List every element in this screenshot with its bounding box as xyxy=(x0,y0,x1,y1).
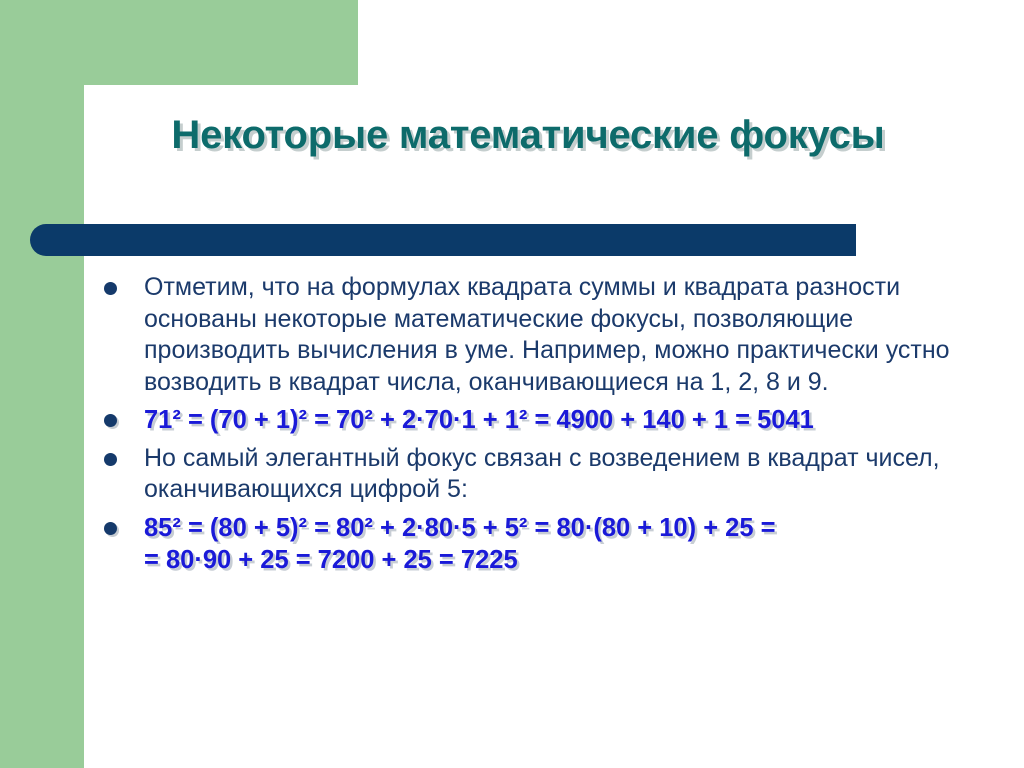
bullet-marker xyxy=(100,512,144,535)
page-title: Некоторые математические фокусы xyxy=(88,113,968,158)
title-divider-bar xyxy=(30,224,856,256)
bullet-dot-icon xyxy=(104,522,117,535)
slide-body: Отметим, что на формулах квадрата суммы … xyxy=(100,272,980,583)
bullet-dot-icon xyxy=(104,453,117,466)
bullet-marker xyxy=(100,404,144,427)
formula-71-squared: 71² = (70 + 1)² = 70² + 2·70·1 + 1² = 49… xyxy=(144,404,980,437)
list-item: 71² = (70 + 1)² = 70² + 2·70·1 + 1² = 49… xyxy=(100,404,980,437)
list-item: Отметим, что на формулах квадрата суммы … xyxy=(100,272,980,398)
bullet-dot-icon xyxy=(104,414,117,427)
green-top-banner xyxy=(0,0,358,85)
formula-85-squared: 85² = (80 + 5)² = 80² + 2·80·5 + 5² = 80… xyxy=(144,512,980,577)
slide-canvas: Некоторые математические фокусы Отметим,… xyxy=(0,0,1024,768)
list-item: 85² = (80 + 5)² = 80² + 2·80·5 + 5² = 80… xyxy=(100,512,980,577)
bullet-dot-icon xyxy=(104,282,117,295)
bullet-marker xyxy=(100,443,144,466)
list-item: Но самый элегантный фокус связан с возве… xyxy=(100,443,980,506)
bullet-text-intro: Отметим, что на формулах квадрата суммы … xyxy=(144,272,980,398)
green-side-panel xyxy=(0,0,84,768)
bullet-marker xyxy=(100,272,144,295)
bullet-text-elegant-trick: Но самый элегантный фокус связан с возве… xyxy=(144,443,980,506)
